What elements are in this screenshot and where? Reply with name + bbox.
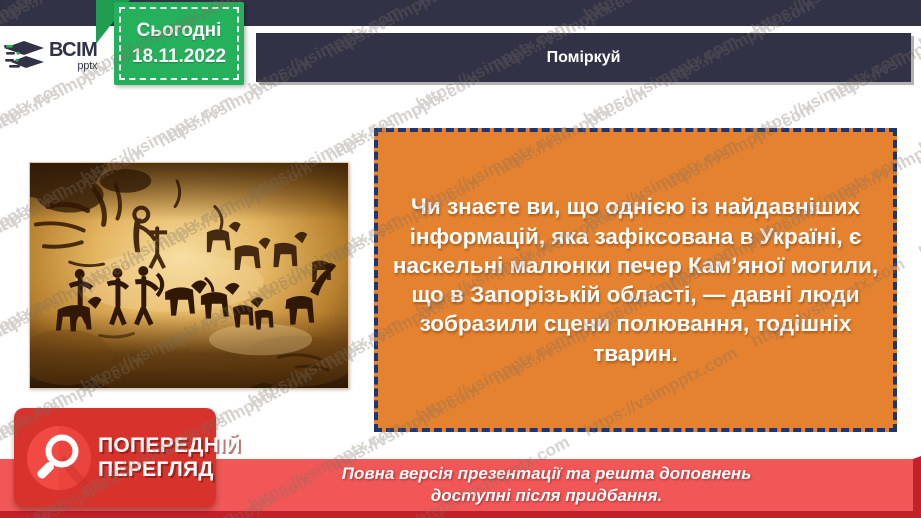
magnifier-icon xyxy=(26,425,92,491)
info-box-text: Чи знаєте ви, що однією із найдавніших і… xyxy=(388,192,883,368)
preview-badge: ПОПЕРЕДНІЙ ПЕРЕГЛЯД xyxy=(14,408,216,507)
logo-sub: pptx xyxy=(49,61,97,72)
purchase-notice-text: Повна версія презентації та решта доповн… xyxy=(162,463,752,507)
purchase-notice-line1: Повна версія презентації та решта доповн… xyxy=(342,464,752,483)
date-badge-value: 18.11.2022 xyxy=(132,44,226,70)
info-box: Чи знаєте ви, що однією із найдавніших і… xyxy=(374,128,897,432)
page-title: Поміркуй xyxy=(547,49,621,67)
slide-canvas: ВСІМ pptx Сьогодні 18.11.2022 Поміркуй xyxy=(0,0,921,518)
purchase-notice-line2: доступні після придбання. xyxy=(431,486,662,505)
date-badge: Сьогодні 18.11.2022 xyxy=(114,2,244,85)
logo-word: ВСІМ xyxy=(49,40,97,60)
graduation-cap-icon xyxy=(4,36,48,76)
date-ribbon: Сьогодні 18.11.2022 xyxy=(96,0,256,92)
preview-badge-line2: ПЕРЕГЛЯД xyxy=(98,458,241,482)
header-bar: Поміркуй xyxy=(256,33,911,82)
cave-painting-photo xyxy=(29,162,349,389)
preview-badge-line1: ПОПЕРЕДНІЙ xyxy=(98,434,241,458)
date-badge-label: Сьогодні xyxy=(137,18,222,44)
preview-badge-label: ПОПЕРЕДНІЙ ПЕРЕГЛЯД xyxy=(98,434,241,481)
